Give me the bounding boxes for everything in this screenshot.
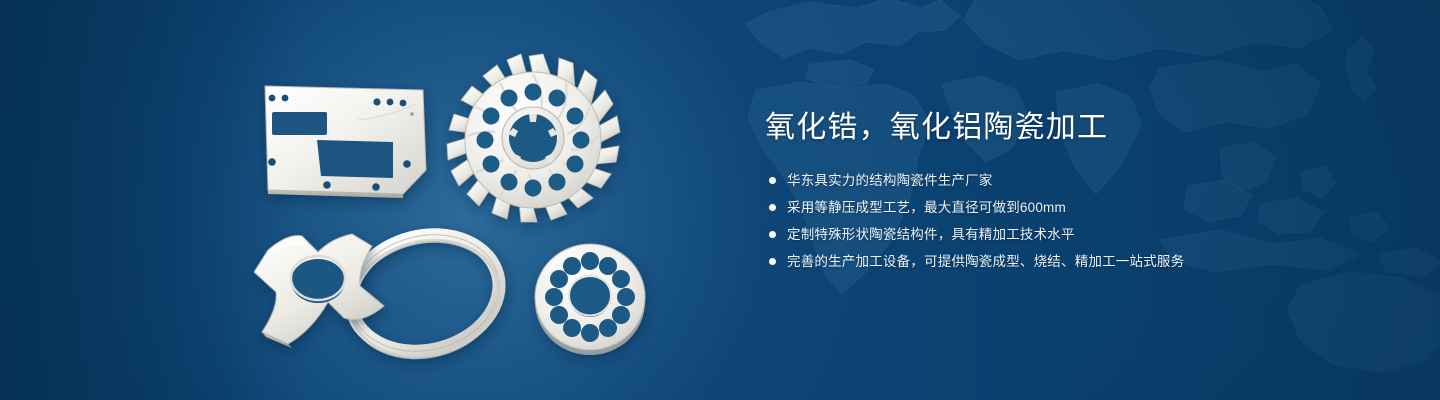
bullet-dot-icon: [769, 231, 776, 238]
feature-text: 定制特殊形状陶瓷结构件，具有精加工技术水平: [787, 223, 1075, 246]
ceramic-impeller-part: [447, 54, 620, 222]
bullet-dot-icon: [769, 204, 776, 211]
list-item: 采用等静压成型工艺，最大直径可做到600mm: [765, 196, 1385, 219]
hero-banner: 氧化锆，氧化铝陶瓷加工 华东具实力的结构陶瓷件生产厂家 采用等静压成型工艺，最大…: [0, 0, 1440, 400]
ceramic-plate-part: [265, 86, 426, 198]
feature-text: 完善的生产加工设备，可提供陶瓷成型、烧结、精加工一站式服务: [787, 250, 1184, 273]
ceramic-valve-plate-part: [535, 244, 645, 355]
list-item: 定制特殊形状陶瓷结构件，具有精加工技术水平: [765, 223, 1385, 246]
bullet-dot-icon: [769, 177, 776, 184]
page-title: 氧化锆，氧化铝陶瓷加工: [765, 108, 1385, 148]
list-item: 完善的生产加工设备，可提供陶瓷成型、烧结、精加工一站式服务: [765, 250, 1385, 273]
bullet-dot-icon: [769, 258, 776, 265]
list-item: 华东具实力的结构陶瓷件生产厂家: [765, 169, 1385, 192]
feature-list: 华东具实力的结构陶瓷件生产厂家 采用等静压成型工艺，最大直径可做到600mm 定…: [765, 169, 1385, 273]
banner-text-block: 氧化锆，氧化铝陶瓷加工 华东具实力的结构陶瓷件生产厂家 采用等静压成型工艺，最大…: [765, 108, 1385, 277]
ceramic-products-image: [0, 0, 720, 400]
feature-text: 华东具实力的结构陶瓷件生产厂家: [787, 169, 993, 192]
feature-text: 采用等静压成型工艺，最大直径可做到600mm: [787, 196, 1066, 219]
